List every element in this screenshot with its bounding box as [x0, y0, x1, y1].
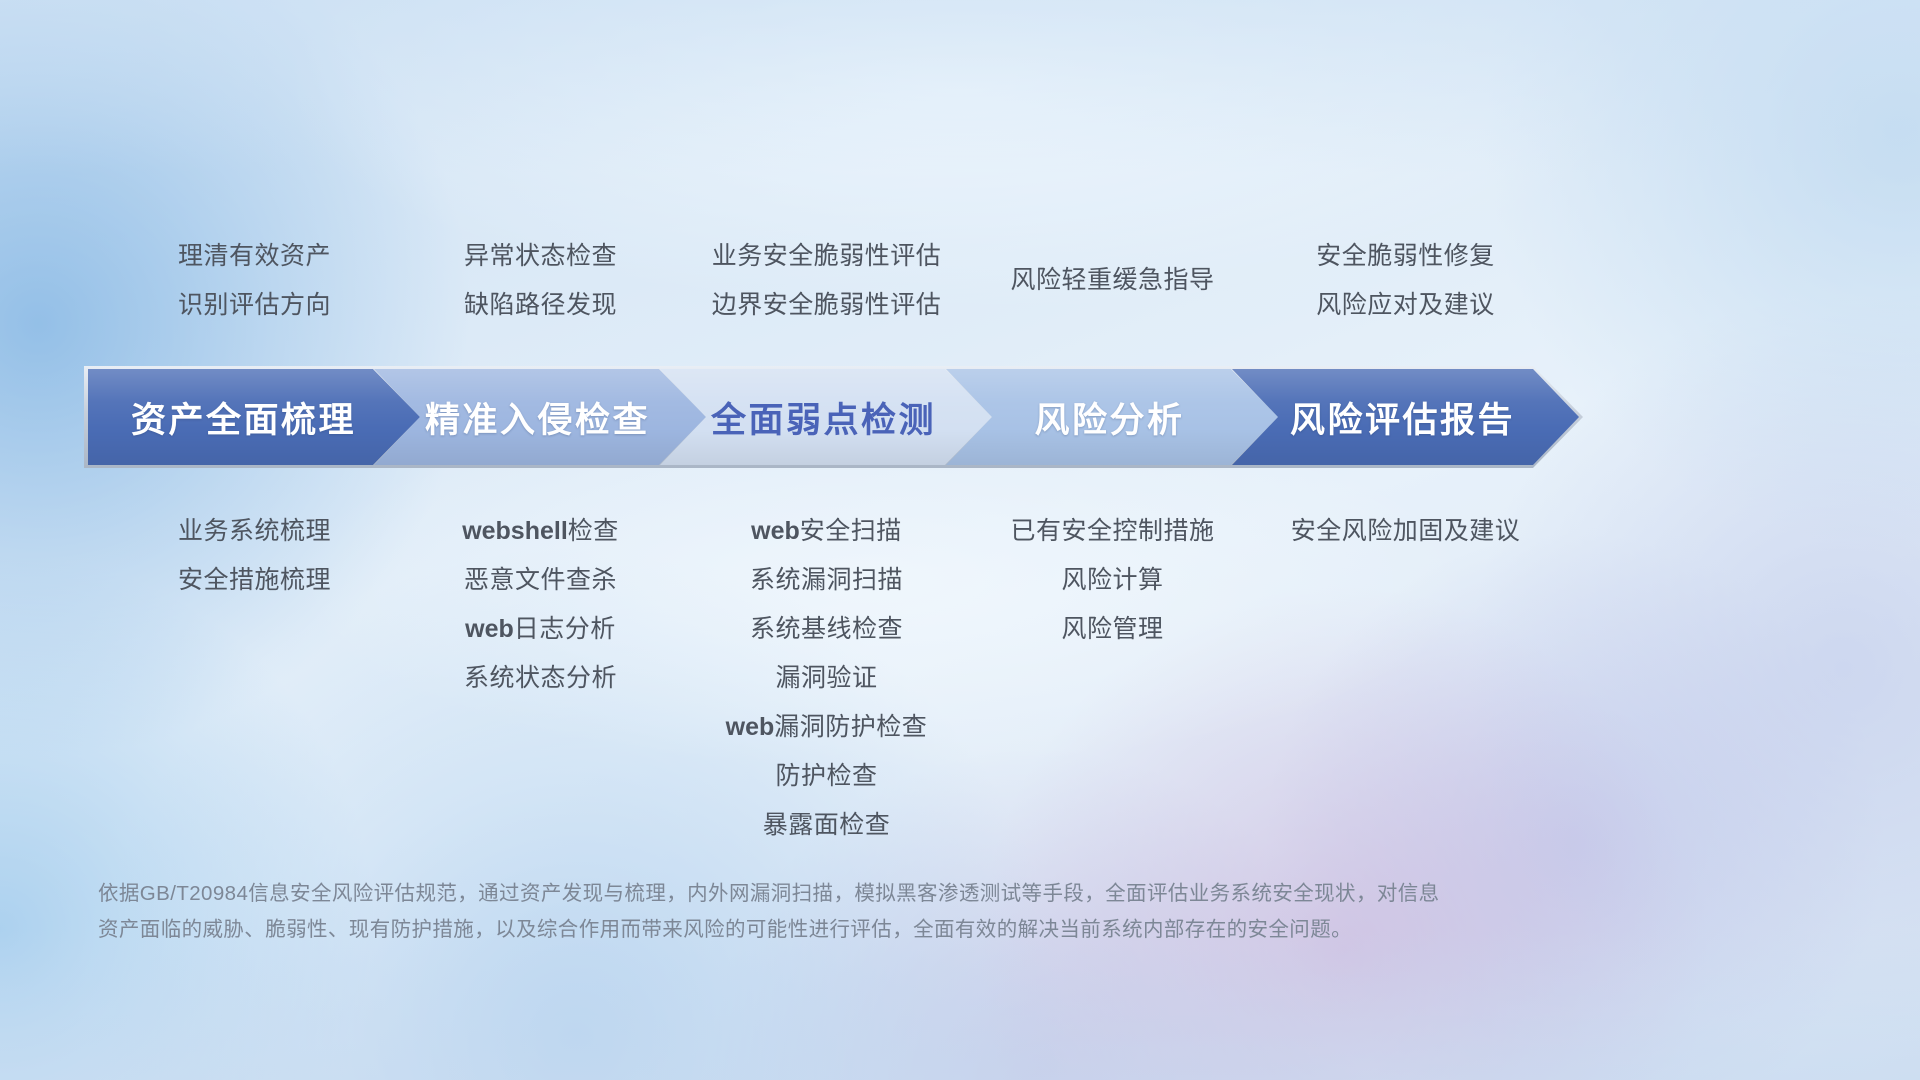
note-cjk-text: 暴露面检查	[763, 811, 891, 839]
stage-2-bottom-note: 恶意文件查杀	[374, 556, 707, 605]
note-cjk-text: 防护检查	[775, 762, 877, 790]
stage-4-bottom-note: 已有安全控制措施	[946, 507, 1279, 556]
stage-1-bottom-note: 业务系统梳理	[88, 507, 421, 556]
stage-3-top-notes: 业务安全脆弱性评估边界安全脆弱性评估	[660, 232, 993, 330]
stage-5-top-note: 风险应对及建议	[1232, 281, 1579, 330]
note-cjk-text: 系统状态分析	[464, 664, 617, 692]
stage-3-bottom-note: 防护检查	[660, 752, 993, 801]
note-cjk-text: 漏洞防护检查	[774, 713, 927, 741]
stage-5-bottom-notes: 安全风险加固及建议	[1232, 507, 1579, 556]
stage-1-top-note: 理清有效资产	[88, 232, 421, 281]
note-latin-prefix: webshell	[462, 517, 568, 545]
note-cjk-text: 安全扫描	[800, 517, 902, 545]
note-cjk-text: 漏洞验证	[775, 664, 877, 692]
stage-1-top-notes: 理清有效资产识别评估方向	[88, 232, 421, 330]
stage-4-top-note: 风险轻重缓急指导	[946, 256, 1279, 305]
stage-5-top-note: 安全脆弱性修复	[1232, 232, 1579, 281]
stage-3-bottom-note: web漏洞防护检查	[660, 703, 993, 752]
footer-line-1: 依据GB/T20984信息安全风险评估规范，通过资产发现与梳理，内外网漏洞扫描，…	[98, 876, 1718, 912]
stage-2-bottom-note: webshell检查	[374, 507, 707, 556]
stage-3-top-note: 业务安全脆弱性评估	[660, 232, 993, 281]
stage-2-top-note: 缺陷路径发现	[374, 281, 707, 330]
stage-1-bottom-note: 安全措施梳理	[88, 556, 421, 605]
stage-3-bottom-note: web安全扫描	[660, 507, 993, 556]
note-cjk-text: 日志分析	[514, 615, 616, 643]
note-cjk-text: 系统漏洞扫描	[750, 566, 903, 594]
stage-2-top-notes: 异常状态检查缺陷路径发现	[374, 232, 707, 330]
note-cjk-text: 检查	[568, 517, 619, 545]
stage-2-bottom-note: web日志分析	[374, 605, 707, 654]
note-cjk-text: 恶意文件查杀	[464, 566, 617, 594]
stage-5-bottom-note: 安全风险加固及建议	[1232, 507, 1579, 556]
stage-3-top-note: 边界安全脆弱性评估	[660, 281, 993, 330]
note-latin-prefix: web	[751, 517, 800, 545]
stage-4-bottom-notes: 已有安全控制措施风险计算风险管理	[946, 507, 1279, 654]
stage-2-top-note: 异常状态检查	[374, 232, 707, 281]
stage-1-bottom-notes: 业务系统梳理安全措施梳理	[88, 507, 421, 605]
stage-3-bottom-note: 系统漏洞扫描	[660, 556, 993, 605]
stage-2-bottom-notes: webshell检查恶意文件查杀web日志分析系统状态分析	[374, 507, 707, 703]
stage-3-bottom-note: 暴露面检查	[660, 801, 993, 850]
stage-4-top-notes: 风险轻重缓急指导	[946, 256, 1279, 305]
note-cjk-text: 系统基线检查	[750, 615, 903, 643]
stage-4-bottom-note: 风险计算	[946, 556, 1279, 605]
note-latin-prefix: web	[465, 615, 514, 643]
stage-4-bottom-note: 风险管理	[946, 605, 1279, 654]
footer-line-2: 资产面临的威胁、脆弱性、现有防护措施，以及综合作用而带来风险的可能性进行评估，全…	[98, 912, 1718, 948]
stage-3-bottom-notes: web安全扫描系统漏洞扫描系统基线检查漏洞验证web漏洞防护检查防护检查暴露面检…	[660, 507, 993, 850]
slide-canvas: 资产全面梳理精准入侵检查全面弱点检测风险分析风险评估报告 理清有效资产识别评估方…	[0, 0, 1920, 1080]
stage-1-top-note: 识别评估方向	[88, 281, 421, 330]
footer-description: 依据GB/T20984信息安全风险评估规范，通过资产发现与梳理，内外网漏洞扫描，…	[98, 876, 1718, 948]
stage-2-bottom-note: 系统状态分析	[374, 654, 707, 703]
note-latin-prefix: web	[726, 713, 775, 741]
stage-3-bottom-note: 系统基线检查	[660, 605, 993, 654]
stage-3-bottom-note: 漏洞验证	[660, 654, 993, 703]
stage-5-top-notes: 安全脆弱性修复风险应对及建议	[1232, 232, 1579, 330]
